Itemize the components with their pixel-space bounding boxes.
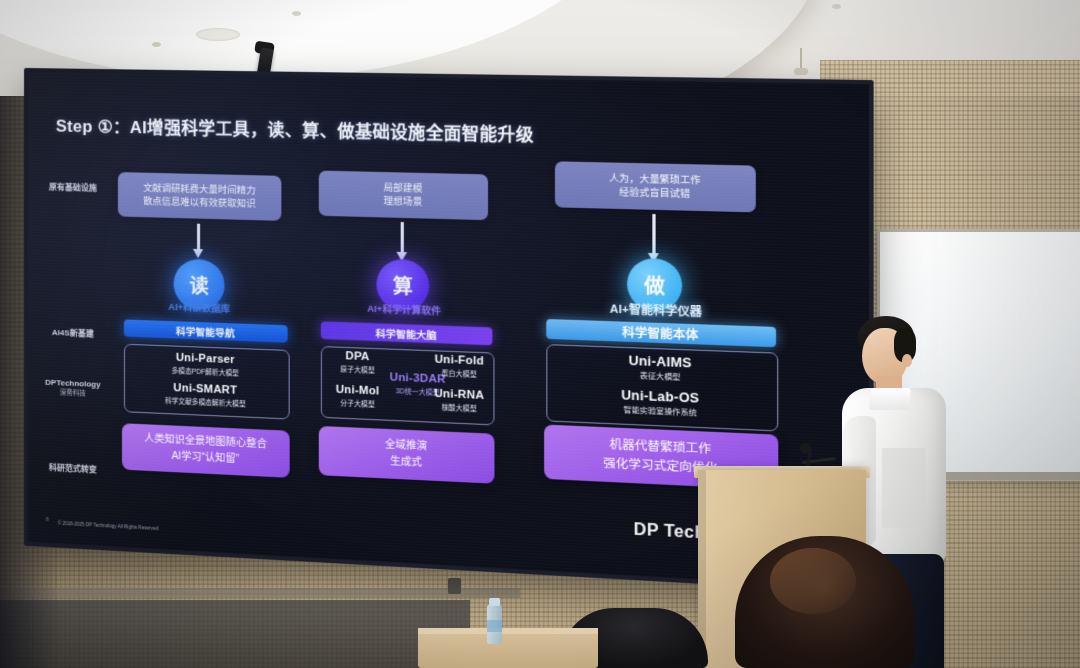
- presenter-collar: [869, 388, 911, 410]
- wall-power-outlet[interactable]: [448, 578, 461, 594]
- ceiling-speaker: [196, 28, 240, 41]
- audience-desk-edge: [418, 628, 598, 634]
- lecture-hall-scene: Step ①：AI增强科学工具，读、算、做基础设施全面智能升级 原有基础设施 A…: [0, 0, 1080, 668]
- microphone-icon: [800, 443, 811, 454]
- audience-desk: [418, 628, 598, 668]
- water-bottle-label: [487, 620, 502, 632]
- water-bottle-cap: [489, 598, 500, 606]
- ceiling-pendant-rod: [800, 48, 802, 70]
- ceiling-light-5: [832, 4, 841, 9]
- wall-lower-dark-band: [0, 600, 470, 668]
- presenter-shirt-fold: [882, 448, 926, 528]
- ceiling-pendant-body: [794, 68, 808, 75]
- ceiling-light-2: [292, 11, 301, 16]
- wall-baseboard: [0, 588, 520, 598]
- ceiling-light-1: [152, 42, 161, 47]
- audience-hair-highlight: [770, 548, 856, 614]
- presenter-ear: [902, 354, 912, 367]
